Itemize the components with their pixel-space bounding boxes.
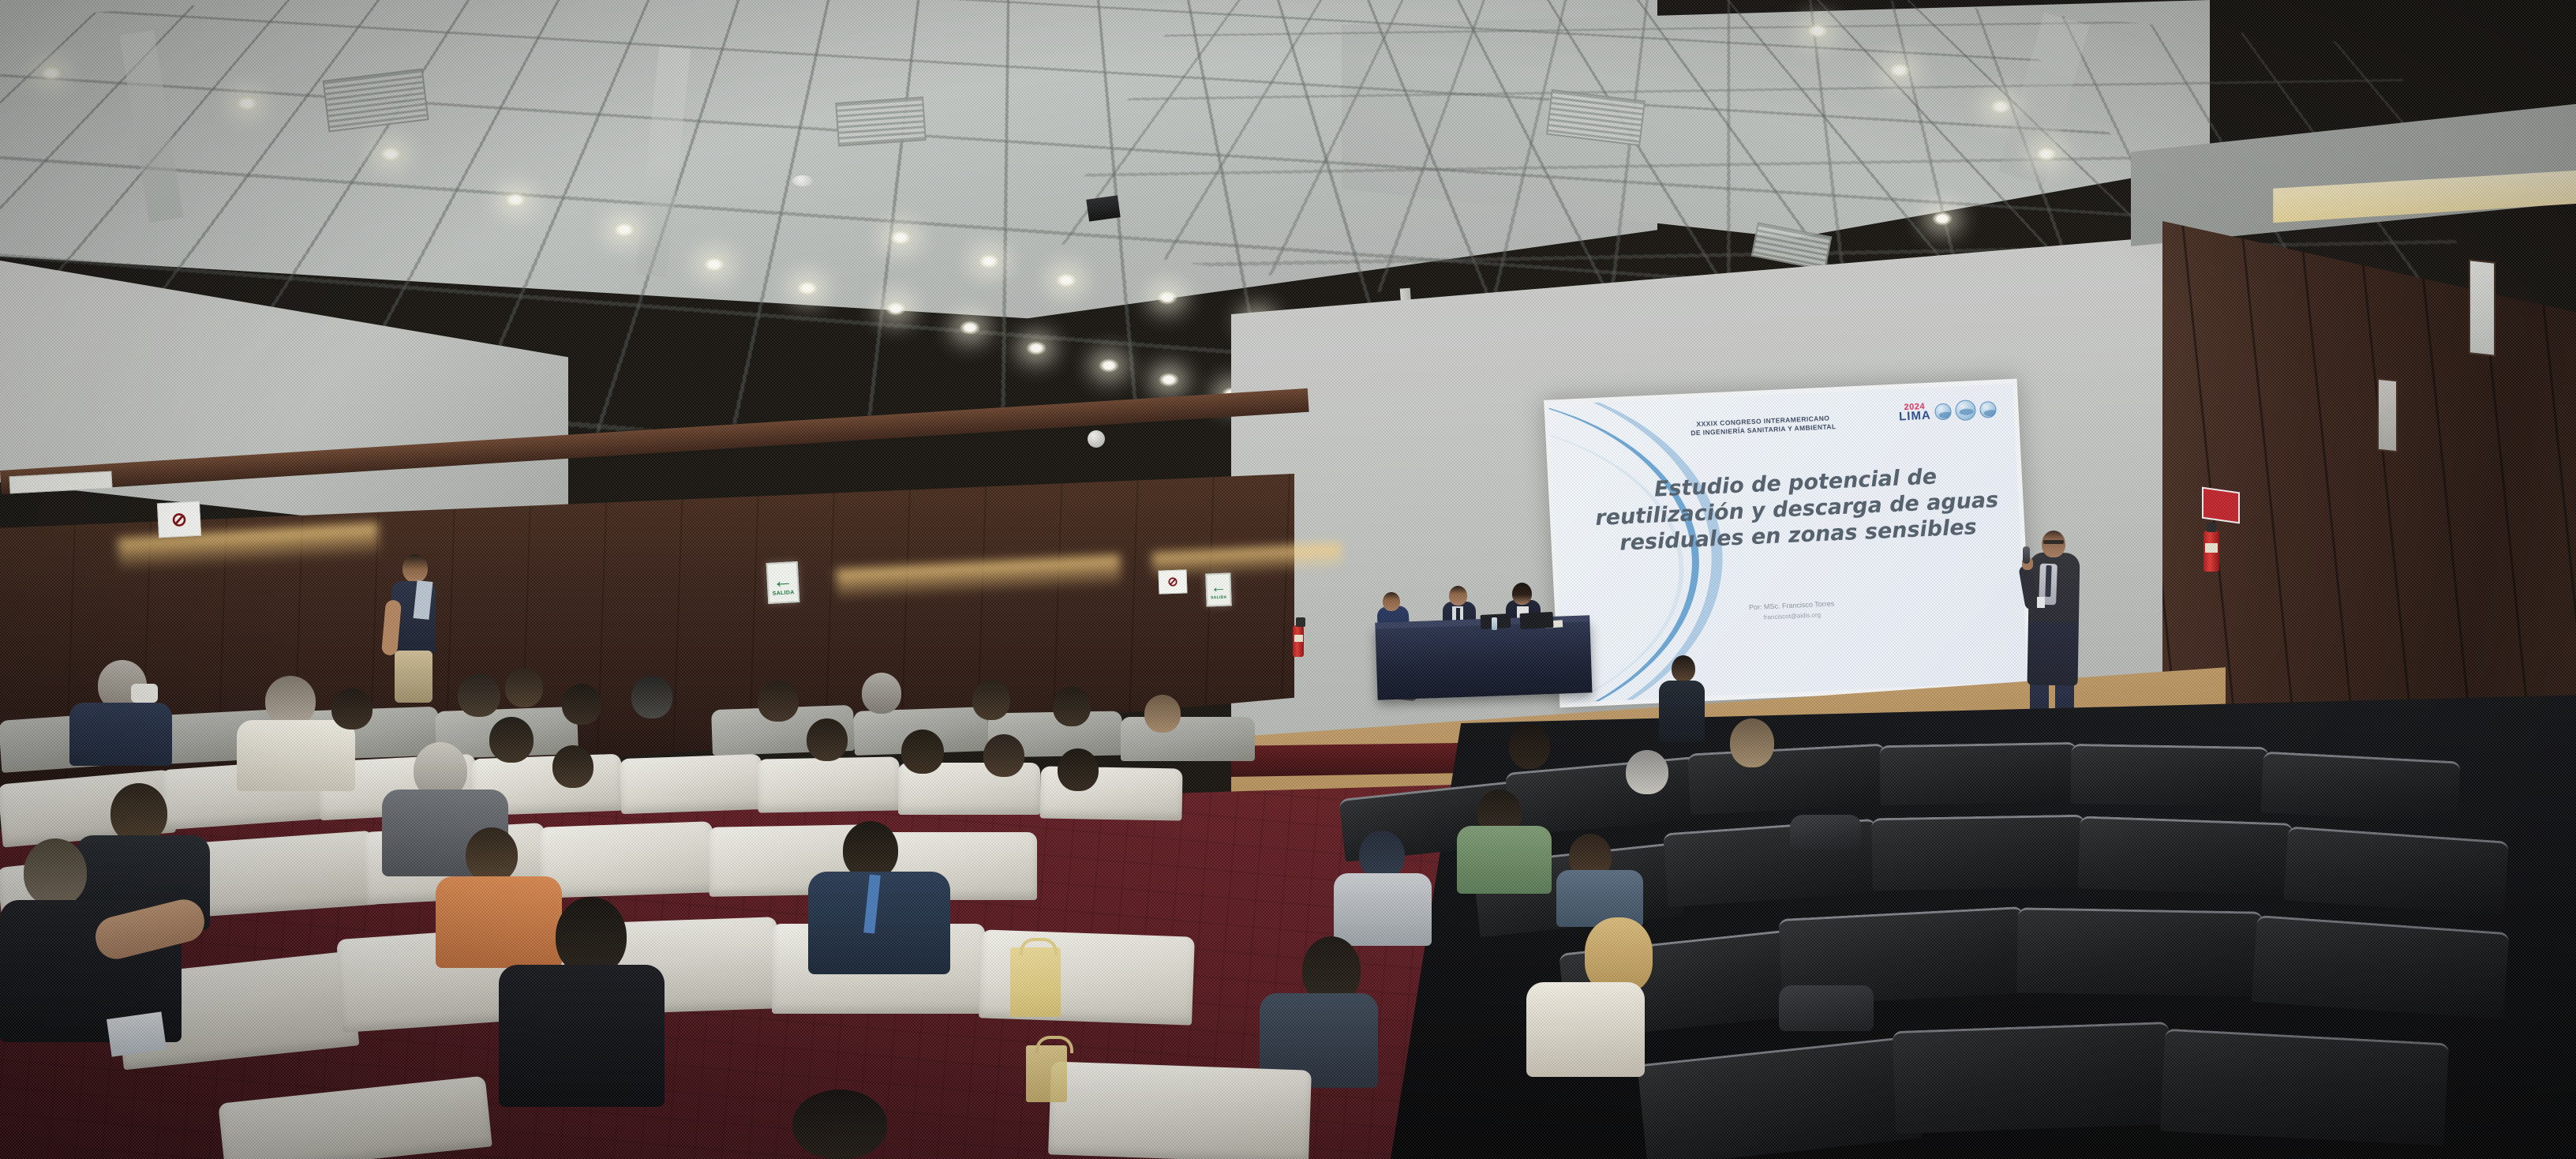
seat-row[interactable]: [757, 756, 900, 812]
ceiling-downlight: [505, 193, 526, 207]
ceiling-downlight: [1807, 24, 1828, 38]
panelist-head-2: [1449, 586, 1467, 606]
audience-head: [489, 717, 534, 763]
backpack-on-seat: [1779, 985, 1874, 1031]
standing-person-head: [402, 554, 428, 583]
audience-torso: [69, 703, 172, 766]
presenter-glasses-icon: [2043, 540, 2064, 544]
exit-sign-left: ← SALIDA: [766, 561, 800, 604]
seat-row[interactable]: [2160, 1029, 2449, 1146]
audience-head: [110, 783, 167, 843]
ceiling-downlight: [960, 321, 980, 335]
ceiling-speaker-icon: [1086, 195, 1121, 221]
ceiling-vent-2: [835, 96, 927, 147]
seat-row[interactable]: [1687, 744, 1888, 816]
backpack-on-seat: [1790, 815, 1861, 850]
ceiling-downlight: [1099, 358, 1119, 373]
audience-mask-icon: [131, 684, 158, 703]
audience-head: [758, 681, 799, 722]
seat-row[interactable]: [538, 821, 714, 898]
extinguisher-label: [2205, 543, 2218, 553]
audience-head: [458, 674, 500, 717]
ceiling-downlight: [1932, 212, 1953, 226]
audience-head: [1359, 831, 1405, 880]
logo-city: LIMA: [1899, 410, 1931, 423]
seat-row[interactable]: [1893, 1022, 2172, 1134]
audience-torso: [237, 720, 355, 791]
presenter-badge: [2037, 597, 2045, 608]
wall-sconce: [2469, 259, 2495, 357]
seat-row[interactable]: [2070, 744, 2268, 807]
audience-head: [505, 668, 543, 707]
seat-row[interactable]: [2252, 915, 2510, 1019]
projection-screen: XXXIX CONGRESO INTERAMERICANO DE INGENIE…: [1544, 379, 2033, 708]
audience-head: [552, 745, 593, 788]
ceiling-downlight: [1056, 273, 1076, 287]
presenter-head: [2042, 531, 2065, 557]
ceiling-downlight: [1026, 341, 1046, 355]
no-smoking-sign-right: ⊘: [1158, 569, 1187, 594]
fire-extinguisher-right: [2203, 531, 2219, 572]
ceiling-downlight: [614, 223, 635, 237]
audience-head: [843, 821, 898, 880]
audience-torso: [1526, 982, 1645, 1077]
audience-torso: [1334, 873, 1432, 946]
audience-head: [466, 827, 518, 883]
slide-header: XXXIX CONGRESO INTERAMERICANO DE INGENIE…: [1645, 412, 1882, 440]
no-smoking-icon: ⊘: [170, 508, 188, 531]
org-logo-icon-1: [1934, 403, 1952, 420]
paper-bag: [1026, 1045, 1067, 1102]
presenter-tie: [2045, 565, 2051, 597]
ceiling-downlight: [979, 254, 999, 268]
wall-sconce: [2377, 378, 2398, 453]
audience-head: [265, 676, 316, 726]
ceiling-downlight: [885, 302, 906, 316]
audience-head: [901, 730, 944, 774]
seat-row[interactable]: [184, 831, 378, 918]
seat-row[interactable]: [2283, 826, 2509, 915]
standing-person-torso: [1659, 681, 1705, 742]
panelist-head-1: [1383, 592, 1400, 611]
seat-row[interactable]: [1048, 1061, 1312, 1159]
audience-head: [631, 676, 672, 718]
fire-extinguisher-stage: [1293, 625, 1304, 657]
org-logo-icon-3: [1979, 400, 1997, 418]
seat-row[interactable]: [1871, 815, 2086, 891]
audience-head: [792, 1090, 887, 1159]
exit-sign-right: ← SALIDA: [1205, 572, 1231, 606]
paper-bag: [1010, 947, 1061, 1017]
audience-torso: [436, 876, 562, 968]
exit-arrow-icon: ←: [1211, 579, 1227, 596]
ceiling-downlight: [704, 257, 724, 272]
ceiling-downlight: [1889, 63, 1910, 77]
extinguisher-label: [1294, 635, 1303, 642]
ceiling-downlight: [1159, 373, 1179, 387]
org-logo-icon-2: [1955, 399, 1976, 421]
audience-head: [1730, 718, 1774, 767]
ceiling-downlight: [41, 66, 62, 81]
audience-head: [1626, 750, 1668, 794]
audience-head: [1144, 695, 1181, 733]
ceiling-downlight: [2036, 147, 2057, 161]
audience-head: [807, 718, 848, 761]
ceiling-downlight: [797, 281, 818, 295]
seat-row[interactable]: [620, 754, 763, 814]
no-smoking-icon: ⊘: [1167, 574, 1178, 590]
audience-head: [556, 897, 627, 976]
panel-table: [1375, 620, 1592, 700]
presentation-slide: XXXIX CONGRESO INTERAMERICANO DE INGENIE…: [1548, 384, 2027, 703]
seat-row[interactable]: [2260, 752, 2461, 823]
lanyard-badge: [107, 1011, 167, 1056]
exit-arrow-icon: ←: [772, 569, 793, 591]
panelist-head-3: [1512, 583, 1532, 605]
lima-2024-logo: 2024 LIMA: [1898, 403, 1931, 423]
table-water-bottle: [1492, 617, 1497, 630]
fire-equipment-sign: [2202, 487, 2240, 524]
audience-head: [1058, 748, 1099, 791]
exit-sign-label: SALIDA: [773, 590, 795, 596]
audience-head: [24, 838, 87, 906]
exit-sign-label: SALIDA: [1211, 595, 1227, 601]
ceiling-downlight: [1990, 99, 2011, 114]
standing-person-head: [1672, 655, 1695, 682]
audience-head: [1053, 687, 1091, 726]
audience-torso: [499, 965, 665, 1107]
smoke-detector-icon: [792, 175, 813, 186]
audience-head: [972, 681, 1010, 720]
no-smoking-sign-left: ⊘: [157, 501, 201, 538]
seat-row[interactable]: [1121, 717, 1255, 761]
ceiling-downlight: [890, 231, 911, 245]
ceiling-downlight: [1157, 291, 1178, 305]
ceiling-downlight: [380, 147, 401, 161]
table-monitor: [1520, 612, 1554, 629]
audience-head: [562, 684, 601, 725]
dome-camera-icon: [1088, 430, 1105, 448]
seat-row[interactable]: [2016, 907, 2263, 996]
auditorium-photo: ← SALIDA ← SALIDA ⊘ ⊘ XXXIX CONGRESO INT…: [0, 0, 2576, 1159]
audience-head: [983, 734, 1024, 777]
ceiling-downlight: [237, 96, 257, 111]
seat-row[interactable]: [2077, 816, 2293, 895]
slide-logo-group: 2024 LIMA: [1898, 399, 1997, 424]
audience-head: [862, 673, 901, 714]
audience-head: [1509, 723, 1550, 769]
seat-row[interactable]: [1879, 742, 2077, 805]
microphone-icon: [2023, 546, 2030, 564]
standing-person-legs: [395, 651, 432, 703]
audience-torso: [1457, 826, 1552, 894]
audience-head: [331, 688, 373, 730]
